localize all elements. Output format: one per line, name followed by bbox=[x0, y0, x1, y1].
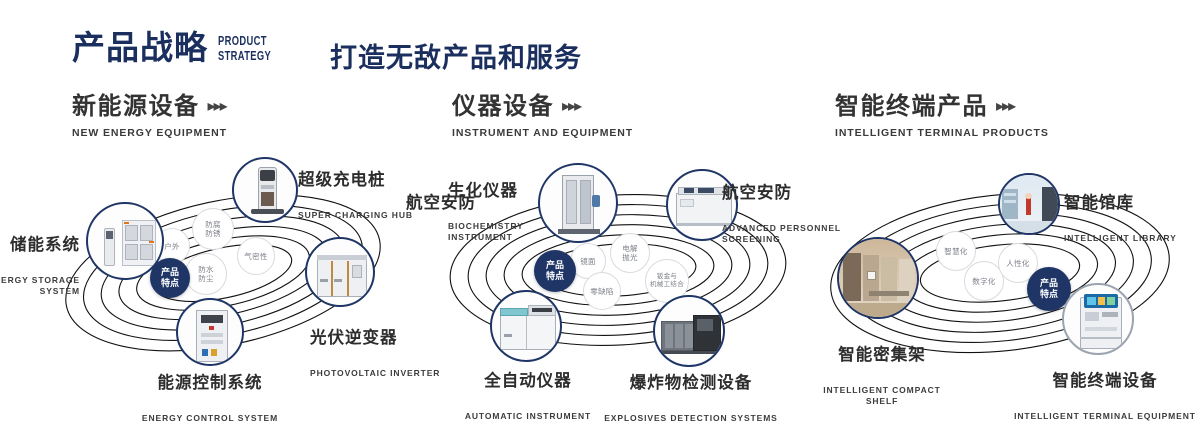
charging-pile-icon bbox=[234, 159, 296, 221]
energy-storage-cabinet-icon bbox=[88, 204, 162, 278]
label-explosives-detection-system: 爆炸物检测设备 EXPLOSIVES DETECTION SYSTEMS bbox=[596, 355, 786, 442]
feature-bubble-2: 防水 防尘 bbox=[185, 253, 227, 295]
label-cn: 智能馆库 bbox=[1064, 193, 1200, 213]
cluster-instrument: 镜面 电解 抛光 零缺陷 钣金与 机械工结合 产品 特点 生化仪器 BIOCHE… bbox=[418, 155, 818, 385]
label-en: ENERGY CONTROL SYSTEM bbox=[70, 413, 350, 424]
label-en: EXPLOSIVES DETECTION SYSTEMS bbox=[596, 413, 786, 424]
section-title-cn-1: 仪器设备▸▸▸ bbox=[452, 92, 633, 122]
node-intelligent-terminal-equipment[interactable] bbox=[1062, 283, 1134, 355]
chevrons-icon: ▸▸▸ bbox=[208, 92, 226, 122]
label-en: ENERGY STORAGE SYSTEM bbox=[0, 275, 80, 297]
feature-bubble-1: 电解 抛光 bbox=[610, 233, 650, 273]
page-subtitle: 打造无敌产品和服务 bbox=[330, 36, 582, 75]
section-title-en-2: INTELLIGENT TERMINAL PRODUCTS bbox=[835, 127, 1049, 139]
section-title-cn-2: 智能终端产品▸▸▸ bbox=[835, 92, 1049, 122]
section-title-en-1: INSTRUMENT AND EQUIPMENT bbox=[452, 127, 633, 139]
node-super-charging-hub[interactable] bbox=[232, 157, 298, 223]
label-cn: 航空安防 bbox=[406, 193, 476, 213]
node-automatic-instrument[interactable] bbox=[490, 290, 562, 362]
section-heading-intelligent: 智能终端产品▸▸▸ INTELLIGENT TERMINAL PRODUCTS bbox=[835, 92, 1049, 139]
label-intelligent-terminal-equipment: 智能终端设备 INTELLIGENT TERMINAL EQUIPMENT bbox=[1010, 353, 1200, 440]
section-title-cn-0: 新能源设备▸▸▸ bbox=[72, 92, 227, 122]
chevrons-icon: ▸▸▸ bbox=[562, 92, 580, 122]
section-heading-new-energy: 新能源设备▸▸▸ NEW ENERGY EQUIPMENT bbox=[72, 92, 227, 139]
label-cn: 爆炸物检测设备 bbox=[596, 373, 786, 393]
label-energy-control-system: 能源控制系统 ENERGY CONTROL SYSTEM bbox=[70, 355, 350, 442]
feature-bubble-1: 防腐 防锈 bbox=[192, 208, 234, 250]
node-energy-storage-system[interactable] bbox=[86, 202, 164, 280]
section-heading-instrument: 仪器设备▸▸▸ INSTRUMENT AND EQUIPMENT bbox=[452, 92, 633, 139]
feature-bubble-3: 气密性 bbox=[237, 237, 275, 275]
page-header: 产品战略 PRODUCT STRATEGY 打造无敌产品和服务 bbox=[0, 0, 1200, 88]
node-photovoltaic-inverter[interactable] bbox=[305, 237, 375, 307]
library-room-icon bbox=[1000, 175, 1058, 233]
label-en: INTELLIGENT LIBRARY bbox=[1064, 233, 1200, 244]
label-cn: 能源控制系统 bbox=[70, 373, 350, 393]
automatic-analyzer-icon bbox=[492, 292, 560, 360]
page-title-cn: 产品战略 bbox=[72, 28, 208, 68]
cluster-intelligent-terminal: 智慧化 数字化 人性化 产品 特点 智能馆库 INTELLIGENT LIBRA… bbox=[800, 155, 1200, 385]
terminal-kiosk-icon bbox=[1064, 285, 1132, 353]
label-intelligent-library: 智能馆库 INTELLIGENT LIBRARY bbox=[1064, 175, 1200, 262]
section-title-en-0: NEW ENERGY EQUIPMENT bbox=[72, 127, 227, 139]
label-energy-storage-system: 储能系统 ENERGY STORAGE SYSTEM bbox=[0, 217, 80, 315]
label-en: INTELLIGENT TERMINAL EQUIPMENT bbox=[1010, 411, 1200, 422]
compact-shelf-icon bbox=[839, 239, 917, 317]
label-cn: 储能系统 bbox=[0, 235, 80, 255]
label-aviation-security-left: 航空安防 bbox=[406, 175, 476, 231]
node-intelligent-library[interactable] bbox=[998, 173, 1060, 235]
label-intelligent-compact-shelf: 智能密集架 INTELLIGENT COMPACT SHELF bbox=[792, 327, 972, 425]
label-cn: 智能终端设备 bbox=[1010, 371, 1200, 391]
label-cn: 智能密集架 bbox=[792, 345, 972, 365]
pv-inverter-cabinet-icon bbox=[307, 239, 373, 305]
node-intelligent-compact-shelf[interactable] bbox=[837, 237, 919, 319]
cluster-new-energy: 户外 防腐 防锈 防水 防尘 气密性 产品 特点 储能系统 ENERGY STO… bbox=[40, 155, 440, 385]
page-title-en: PRODUCT STRATEGY bbox=[218, 33, 271, 63]
label-en: INTELLIGENT COMPACT SHELF bbox=[792, 385, 972, 407]
chevrons-icon: ▸▸▸ bbox=[996, 92, 1014, 122]
feature-bubble-2: 零缺陷 bbox=[583, 272, 621, 310]
